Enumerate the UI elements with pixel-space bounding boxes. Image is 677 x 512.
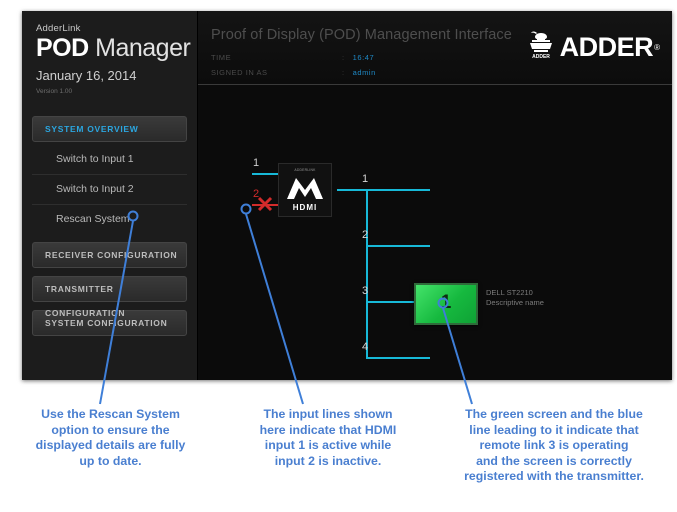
adderlink-hdmi-device-icon[interactable]: ADDERLINK HDMI bbox=[278, 163, 332, 217]
callout-rescan-line-4: up to date. bbox=[8, 454, 213, 470]
callout-inputs-line-4: input 2 is inactive. bbox=[233, 454, 423, 470]
brand-manager: Manager bbox=[89, 34, 191, 62]
screen-description: Descriptive name bbox=[486, 298, 544, 308]
submenu-system-overview: Switch to Input 1 Switch to Input 2 Resc… bbox=[32, 145, 187, 234]
screen-model: DELL ST2210 bbox=[486, 288, 544, 298]
menu-block-system-overview: SYSTEM OVERVIEW Switch to Input 1 Switch… bbox=[22, 116, 197, 234]
signed-in-as-value: admin bbox=[353, 68, 376, 77]
pod-manager-window: AdderLink POD Manager January 16, 2014 V… bbox=[22, 11, 672, 380]
device-to-bus-link bbox=[337, 189, 368, 191]
sidebar-item-transmitter-configuration[interactable]: TRANSMITTER CONFIGURATION bbox=[32, 276, 187, 302]
signed-in-as-label: SIGNED IN AS bbox=[211, 68, 342, 77]
signed-in-as-separator: : bbox=[342, 68, 345, 77]
callout-inputs-line-2: here indicate that HDMI bbox=[233, 423, 423, 439]
port-2-label: 2 bbox=[362, 230, 368, 241]
callout-screen-line-1: The green screen and the blue bbox=[434, 407, 674, 423]
port-4-label: 4 bbox=[362, 342, 368, 353]
svg-text:ADDER: ADDER bbox=[532, 54, 550, 60]
callout-rescan-line-1: Use the Rescan System bbox=[8, 407, 213, 423]
info-row-signed-in-as: SIGNED IN AS:admin bbox=[211, 68, 376, 77]
callout-rescan-line-2: option to ensure the bbox=[8, 423, 213, 439]
remote-screen-3[interactable]: 1 bbox=[414, 283, 478, 325]
version-label: Version 1.00 bbox=[36, 87, 197, 96]
current-date: January 16, 2014 bbox=[36, 68, 197, 84]
callout-text-inputs: The input lines shown here indicate that… bbox=[233, 407, 423, 469]
callout-text-rescan: Use the Rescan System option to ensure t… bbox=[8, 407, 213, 469]
adder-logo: ADDER ADDER® bbox=[524, 30, 660, 65]
port-4-line bbox=[366, 357, 430, 359]
time-value: 16:47 bbox=[353, 53, 375, 62]
brand-block: AdderLink POD Manager January 16, 2014 V… bbox=[22, 11, 197, 96]
page-header: Proof of Display (POD) Management Interf… bbox=[198, 11, 672, 85]
callout-screen-line-5: registered with the transmitter. bbox=[434, 469, 674, 485]
input-1-label: 1 bbox=[253, 158, 259, 169]
port-bus-vertical bbox=[366, 189, 368, 357]
screen-number: 1 bbox=[416, 285, 476, 321]
system-overview-canvas: 1 2 ADDERLINK HDMI 1 2 bbox=[198, 85, 672, 380]
sidebar-item-switch-to-input-1[interactable]: Switch to Input 1 bbox=[32, 145, 187, 175]
menu-block-system-configuration: SYSTEM CONFIGURATION bbox=[22, 310, 197, 336]
brand-pod: POD bbox=[36, 34, 89, 62]
callout-inputs-line-3: input 1 is active while bbox=[233, 438, 423, 454]
sidebar-item-system-overview[interactable]: SYSTEM OVERVIEW bbox=[32, 116, 187, 142]
screen-details: DELL ST2210 Descriptive name bbox=[486, 288, 544, 307]
callout-text-screen: The green screen and the blue line leadi… bbox=[434, 407, 674, 485]
callout-screen-line-3: remote link 3 is operating bbox=[434, 438, 674, 454]
callout-rescan-line-3: displayed details are fully bbox=[8, 438, 213, 454]
sidebar-item-rescan-system[interactable]: Rescan System bbox=[32, 205, 187, 234]
info-row-time: TIME:16:47 bbox=[211, 53, 374, 62]
sidebar: AdderLink POD Manager January 16, 2014 V… bbox=[22, 11, 198, 380]
port-1-label: 1 bbox=[362, 174, 368, 185]
port-1-line bbox=[366, 189, 430, 191]
registered-mark: ® bbox=[654, 44, 660, 52]
device-icon-hdmi-text: HDMI bbox=[279, 203, 331, 212]
adder-crest-icon: ADDER bbox=[524, 30, 558, 65]
input-2-disabled-cross-icon bbox=[256, 195, 276, 215]
menu-block-transmitter-configuration: TRANSMITTER CONFIGURATION bbox=[22, 276, 197, 302]
sidebar-item-system-configuration[interactable]: SYSTEM CONFIGURATION bbox=[32, 310, 187, 336]
time-separator: : bbox=[342, 53, 345, 62]
adder-wordmark: ADDER bbox=[560, 34, 654, 61]
page-title: Proof of Display (POD) Management Interf… bbox=[211, 27, 512, 43]
main-panel: Proof of Display (POD) Management Interf… bbox=[198, 11, 672, 380]
callout-inputs-line-1: The input lines shown bbox=[233, 407, 423, 423]
callout-screen-line-4: and the screen is correctly bbox=[434, 454, 674, 470]
time-label: TIME bbox=[211, 53, 342, 62]
menu-block-receiver-configuration: RECEIVER CONFIGURATION bbox=[22, 242, 197, 268]
sidebar-item-receiver-configuration[interactable]: RECEIVER CONFIGURATION bbox=[32, 242, 187, 268]
sidebar-item-switch-to-input-2[interactable]: Switch to Input 2 bbox=[32, 175, 187, 205]
callout-screen-line-2: line leading to it indicate that bbox=[434, 423, 674, 439]
brand-product-name: POD Manager bbox=[36, 36, 197, 64]
sidebar-menu: SYSTEM OVERVIEW Switch to Input 1 Switch… bbox=[22, 116, 197, 336]
port-2-line bbox=[366, 245, 430, 247]
port-3-label: 3 bbox=[362, 286, 368, 297]
